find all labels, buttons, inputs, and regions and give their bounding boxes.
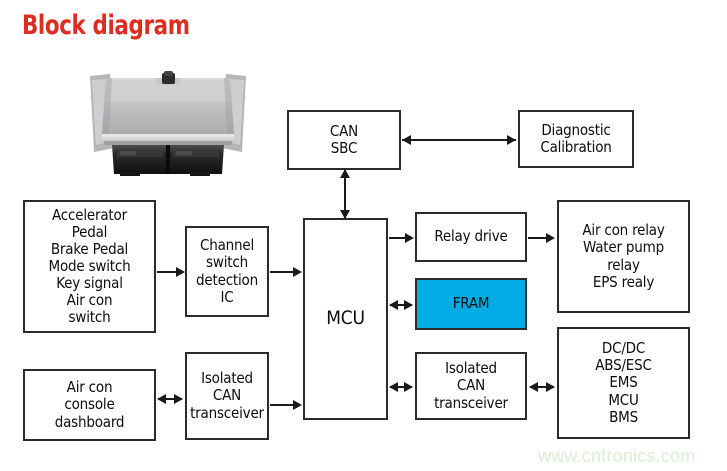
block-sensor-inputs-label: Accelerator Pedal Brake Pedal Mode switc… <box>46 207 134 327</box>
block-isolated-can-transceiver-right-label: Isolated CAN transceiver <box>431 360 511 411</box>
block-relay-loads-label: Air con relay Water pump relay EPS realy <box>579 222 667 290</box>
block-relay-loads[interactable]: Air con relay Water pump relay EPS realy <box>557 200 690 313</box>
block-vehicle-systems[interactable]: DC/DC ABS/ESC EMS MCU BMS <box>557 327 690 439</box>
arrowhead-can-sbc-to-diagnostic-right <box>507 135 516 145</box>
arrowhead-mcu-to-relay-drive <box>405 233 414 243</box>
arrowhead-isolated-can-bottom-to-mcu <box>293 400 302 410</box>
block-isolated-can-transceiver-bottom[interactable]: Isolated CAN transceiver <box>185 352 269 440</box>
arrowhead-mcu-to-isolated-can-right-left <box>389 382 398 392</box>
block-can-sbc[interactable]: CAN SBC <box>287 110 401 170</box>
arrowhead-can-sbc-to-diagnostic-left <box>402 135 411 145</box>
connector-can-sbc-to-diagnostic <box>402 139 516 141</box>
arrowhead-isolated-can-right-to-vehicle-systems-right <box>546 382 555 392</box>
block-relay-drive[interactable]: Relay drive <box>415 212 527 262</box>
block-air-con-console-dashboard[interactable]: Air con console dashboard <box>23 369 156 441</box>
block-vehicle-systems-label: DC/DC ABS/ESC EMS MCU BMS <box>592 340 654 425</box>
block-mcu-label: MCU <box>323 308 368 330</box>
block-diagnostic-calibration[interactable]: Diagnostic Calibration <box>518 110 634 168</box>
block-channel-switch-detection-ic[interactable]: Channel switch detection IC <box>185 226 269 317</box>
connector-inputs-to-channel-ic <box>157 271 177 273</box>
block-isolated-can-transceiver-bottom-label: Isolated CAN transceiver <box>187 370 267 421</box>
block-relay-drive-label: Relay drive <box>431 228 510 245</box>
block-mcu[interactable]: MCU <box>303 218 388 420</box>
block-channel-switch-detection-ic-label: Channel switch detection IC <box>193 237 261 305</box>
block-diagram-canvas: Block diagram <box>0 0 727 471</box>
arrowhead-mcu-to-can-sbc-up <box>340 169 350 178</box>
connector-channel-ic-to-mcu <box>270 271 294 273</box>
page-title: Block diagram <box>22 10 190 41</box>
block-fram[interactable]: FRAM <box>415 278 527 330</box>
arrowhead-channel-ic-to-mcu <box>293 267 302 277</box>
connector-isolated-can-bottom-to-mcu <box>270 404 294 406</box>
block-isolated-can-transceiver-right[interactable]: Isolated CAN transceiver <box>415 352 527 420</box>
arrowhead-mcu-to-fram-left <box>389 300 398 310</box>
block-diagnostic-calibration-label: Diagnostic Calibration <box>537 122 614 156</box>
block-sensor-inputs[interactable]: Accelerator Pedal Brake Pedal Mode switc… <box>23 200 156 333</box>
arrowhead-mcu-to-fram-right <box>404 300 413 310</box>
arrowhead-inputs-to-channel-ic <box>176 267 185 277</box>
arrowhead-dashboard-to-isolated-can-bottom-right <box>174 394 183 404</box>
watermark: www.cntronics.com <box>538 446 695 467</box>
arrowhead-mcu-to-isolated-can-right-right <box>404 382 413 392</box>
connector-relay-drive-to-loads <box>528 237 547 239</box>
arrowhead-relay-drive-to-loads <box>546 233 555 243</box>
block-air-con-console-dashboard-label: Air con console dashboard <box>52 379 128 430</box>
arrowhead-mcu-to-can-sbc-down <box>340 210 350 219</box>
block-fram-label: FRAM <box>450 295 493 312</box>
arrowhead-dashboard-to-isolated-can-bottom-left <box>157 394 166 404</box>
block-can-sbc-label: CAN SBC <box>327 123 361 157</box>
arrowhead-isolated-can-right-to-vehicle-systems-left <box>529 382 538 392</box>
ecu-module-photo <box>84 62 252 178</box>
